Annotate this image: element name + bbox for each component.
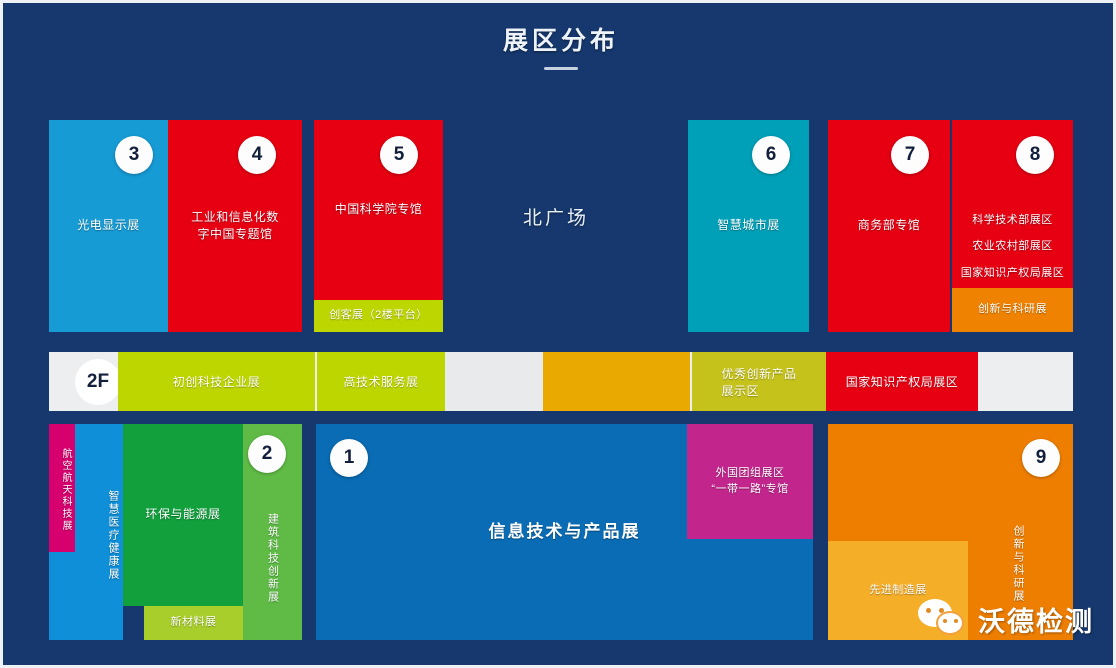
- zone-8-badge: 8: [1016, 136, 1054, 174]
- strip-segment-ip-office[interactable]: 国家知识产权局展区: [826, 352, 978, 411]
- floor-2f-badge: 2F: [75, 359, 121, 405]
- zone-3-number: 3: [129, 144, 140, 166]
- zone-4-label: 工业和信息化数 字中国专题馆: [187, 207, 283, 246]
- title-underline: [544, 67, 578, 70]
- zone-6-badge: 6: [752, 136, 790, 174]
- zone-6-label: 智慧城市展: [713, 215, 784, 236]
- new-materials-block[interactable]: 新材料展: [144, 606, 243, 640]
- strip-segment-orange-label: [613, 380, 621, 384]
- strip-segment-ip-office-label: 国家知识产权局展区: [842, 371, 963, 392]
- zone-4-number: 4: [252, 144, 263, 166]
- zone-3-badge: 3: [115, 136, 153, 174]
- strip-segment-hightech-service-label: 高技术服务展: [339, 371, 422, 392]
- maker-exhibition-block[interactable]: 创客展（2楼平台）: [314, 300, 443, 332]
- zone-1-label: 信息技术与产品展: [485, 518, 645, 547]
- zone-9-label: 创新与科研展: [1008, 523, 1028, 605]
- strip-segment-excellent-products[interactable]: 优秀创新产品 展示区: [692, 352, 826, 411]
- advanced-manufacturing-label: 先进制造展: [865, 581, 931, 601]
- north-plaza-label: 北广场: [523, 203, 589, 230]
- zone-8-number: 8: [1030, 144, 1041, 166]
- zone-5-label: 中国科学院专馆: [331, 199, 427, 220]
- strip-segment-startup-tech-label: 初创科技企业展: [169, 371, 265, 392]
- zone-1-badge: 1: [330, 439, 368, 477]
- strip-segment-excellent-products-label: 优秀创新产品 展示区: [717, 363, 800, 401]
- innovation-research-upper-block[interactable]: 创新与科研展: [952, 288, 1073, 332]
- aerospace-label: 航空航天科技展: [56, 446, 75, 534]
- zone-8-block[interactable]: 科学技术部展区 农业农村部展区 国家知识产权局展区: [952, 120, 1073, 288]
- zone-2-number: 2: [262, 443, 273, 465]
- aerospace-block[interactable]: 航空航天科技展: [49, 424, 75, 552]
- zone-2-badge: 2: [248, 435, 286, 473]
- zone-7-number: 7: [905, 144, 916, 166]
- zone-6-block[interactable]: 智慧城市展: [688, 120, 809, 332]
- zone-4-block[interactable]: 工业和信息化数 字中国专题馆: [168, 120, 302, 332]
- foreign-delegation-block[interactable]: 外国团组展区 “一带一路”专馆: [687, 424, 813, 539]
- strip-segment-blank-1-label: [490, 380, 498, 384]
- zone-1-number: 1: [344, 447, 355, 469]
- zone-9-number: 9: [1036, 447, 1047, 469]
- zone-7-badge: 7: [891, 136, 929, 174]
- floor-2f-strip: 2F 初创科技企业展 高技术服务展 优秀创新产品 展示区 国家知识产权局展区: [49, 352, 1073, 411]
- strip-segment-hightech-service[interactable]: 高技术服务展: [317, 352, 445, 411]
- zone-6-number: 6: [766, 144, 777, 166]
- foreign-delegation-label: 外国团组展区 “一带一路”专馆: [707, 464, 792, 500]
- strip-segment-blank-1: [445, 352, 543, 411]
- exhibition-floor-plan: 展区分布 光电显示展 3 工业和信息化数 字中国专题馆 4 中国科学院专馆 5 …: [0, 0, 1116, 668]
- maker-exhibition-label: 创客展（2楼平台）: [325, 306, 432, 326]
- strip-segment-blank-2-label: [1022, 380, 1030, 384]
- zone-5-badge: 5: [380, 136, 418, 174]
- page-title-block: 展区分布: [3, 21, 1116, 70]
- floor-2f-label: 2F: [87, 371, 109, 393]
- new-materials-label: 新材料展: [167, 613, 221, 633]
- strip-segment-blank-2: [978, 352, 1073, 411]
- zone-8-label: 科学技术部展区 农业农村部展区 国家知识产权局展区: [957, 212, 1069, 282]
- advanced-manufacturing-block[interactable]: 先进制造展: [828, 541, 968, 640]
- zone-5-number: 5: [394, 144, 405, 166]
- innovation-research-upper-label: 创新与科研展: [974, 300, 1051, 320]
- zone-7-block[interactable]: 商务部专馆: [828, 120, 950, 332]
- zone-3-label: 光电显示展: [73, 215, 144, 236]
- zone-4-badge: 4: [238, 136, 276, 174]
- zone-2-label: 建筑科技创新展: [262, 511, 282, 606]
- zone-5-block[interactable]: 中国科学院专馆: [314, 120, 443, 300]
- page-title: 展区分布: [3, 21, 1116, 57]
- zone-9-label-wrap: 创新与科研展: [1003, 491, 1033, 636]
- strip-segment-orange[interactable]: [543, 352, 690, 411]
- zone-9-badge: 9: [1022, 439, 1060, 477]
- environment-energy-label: 环保与能源展: [141, 504, 224, 525]
- zone-7-label: 商务部专馆: [854, 215, 925, 236]
- strip-segment-startup-tech[interactable]: 初创科技企业展: [118, 352, 315, 411]
- environment-energy-block[interactable]: 环保与能源展: [123, 424, 243, 606]
- smart-medical-label: 智慧医疗健康展: [103, 488, 123, 583]
